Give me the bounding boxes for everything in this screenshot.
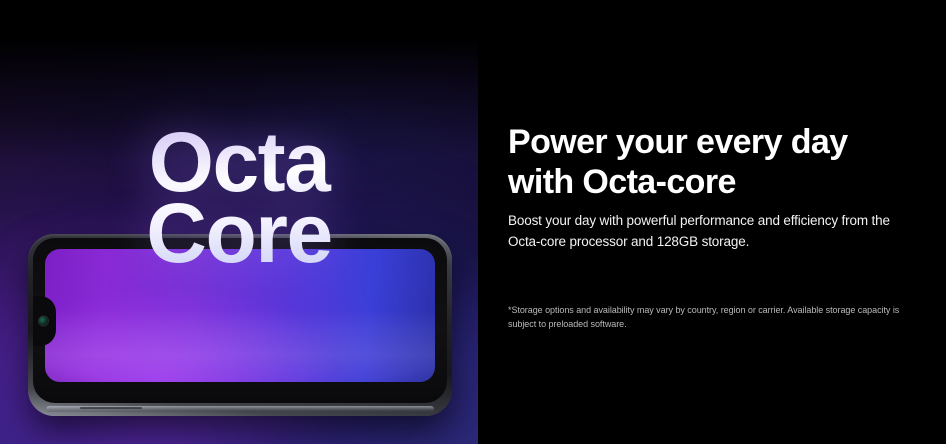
headline-line-2: with Octa-core [508,162,928,202]
headline: Power your every day with Octa-core [508,122,928,202]
phone-frame: Core [28,234,452,416]
screen-reflection-text: Core [45,376,435,382]
wordmark-line-octa: Octa [0,124,478,201]
octa-core-promo-banner: Octa Core Core Pow [0,0,946,444]
phone-device-image: Core [28,234,452,416]
legal-disclaimer: *Storage options and availability may va… [508,303,912,332]
headline-line-1: Power your every day [508,122,928,162]
screen-reflection-overlay [45,310,435,382]
body-copy: Boost your day with powerful performance… [508,211,908,253]
phone-antenna-line [80,407,142,409]
phone-bezel: Core [33,238,447,403]
product-visual-panel: Octa Core Core [0,38,478,444]
phone-screen: Core [45,249,435,382]
top-fade-overlay [0,38,478,158]
marketing-text-panel: Power your every day with Octa-core Boos… [478,0,946,444]
front-camera-icon [39,316,48,325]
screen-vignette [45,249,435,382]
